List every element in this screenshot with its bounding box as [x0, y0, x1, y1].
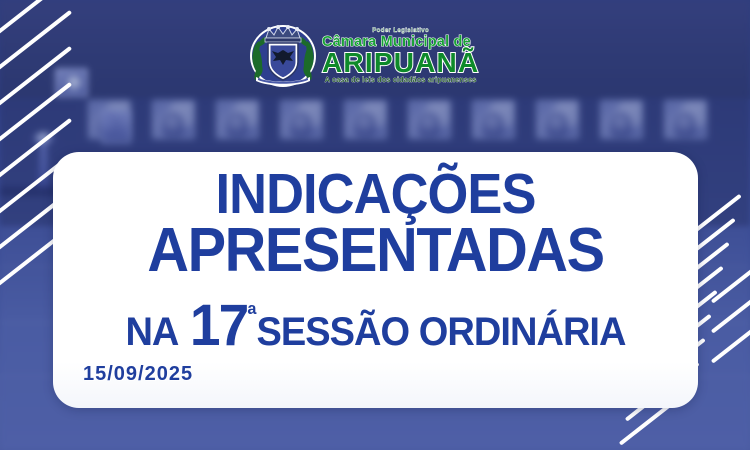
councillor-portrait	[472, 100, 515, 139]
councillor-portrait-row	[88, 100, 707, 139]
session-ordinal-mark: ª	[247, 301, 255, 327]
logo-line-aripuana: ARIPUANÃ	[322, 50, 479, 76]
councillor-portrait	[664, 100, 707, 139]
headline-line-2: APRESENTADAS	[76, 220, 676, 282]
poster-canvas: Poder Legislativo Câmara Municipal de AR…	[0, 0, 750, 450]
session-number: 17	[190, 297, 247, 355]
side-portrait-frame	[55, 68, 88, 97]
councillor-portrait	[408, 100, 451, 139]
microphone-stem	[38, 143, 49, 191]
camara-logo: Poder Legislativo Câmara Municipal de AR…	[248, 20, 479, 90]
session-line: NA 17 ª SESSÃO ORDINÁRIA	[69, 297, 682, 355]
logo-tagline: A casa de leis dos cidadãos aripuanenses	[322, 77, 479, 84]
councillor-portrait	[536, 100, 579, 139]
councillor-portrait	[600, 100, 643, 139]
session-prefix: NA	[125, 312, 178, 352]
session-suffix: SESSÃO ORDINÁRIA	[256, 312, 625, 352]
councillor-portrait	[280, 100, 323, 139]
headline-line-1: INDICAÇÕES	[79, 166, 672, 223]
session-date: 15/09/2025	[83, 363, 193, 386]
logo-text-block: Poder Legislativo Câmara Municipal de AR…	[322, 28, 479, 84]
councillor-portrait	[344, 100, 387, 139]
side-portrait-frame	[101, 110, 131, 144]
coat-of-arms-icon	[248, 20, 318, 90]
announcement-card: INDICAÇÕES APRESENTADAS NA 17 ª SESSÃO O…	[53, 152, 698, 408]
councillor-portrait	[216, 100, 259, 139]
councillor-portrait	[152, 100, 195, 139]
